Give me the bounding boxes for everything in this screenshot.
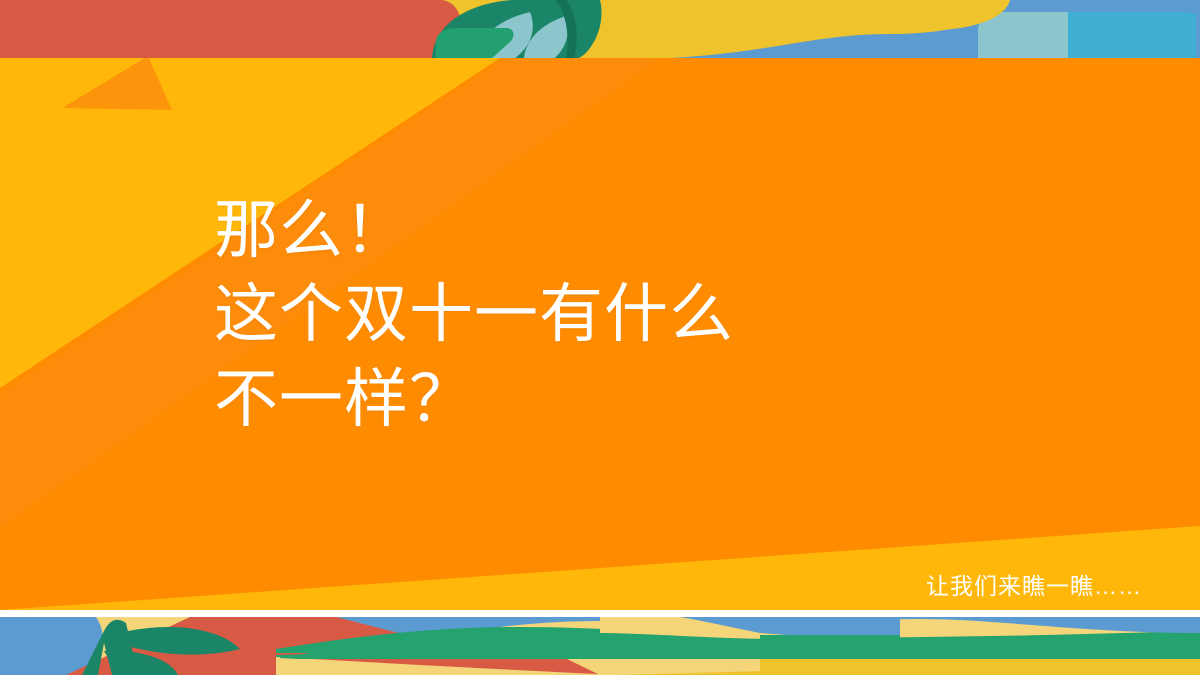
top-band-graphic [0,0,1200,60]
slide-canvas: 那么！ 这个双十一有什么 不一样？ 让我们来瞧一瞧…… [0,0,1200,675]
title-line-1: 那么！ [214,188,734,272]
decorative-top-band [0,0,1200,60]
page-title: 那么！ 这个双十一有什么 不一样？ [214,188,734,441]
title-line-3: 不一样？ [214,357,734,441]
slide-subtitle: 让我们来瞧一瞧…… [926,575,1142,598]
bottom-band-graphic [0,617,1200,675]
decorative-bottom-band [0,617,1200,675]
title-line-2: 这个双十一有什么 [214,272,734,356]
